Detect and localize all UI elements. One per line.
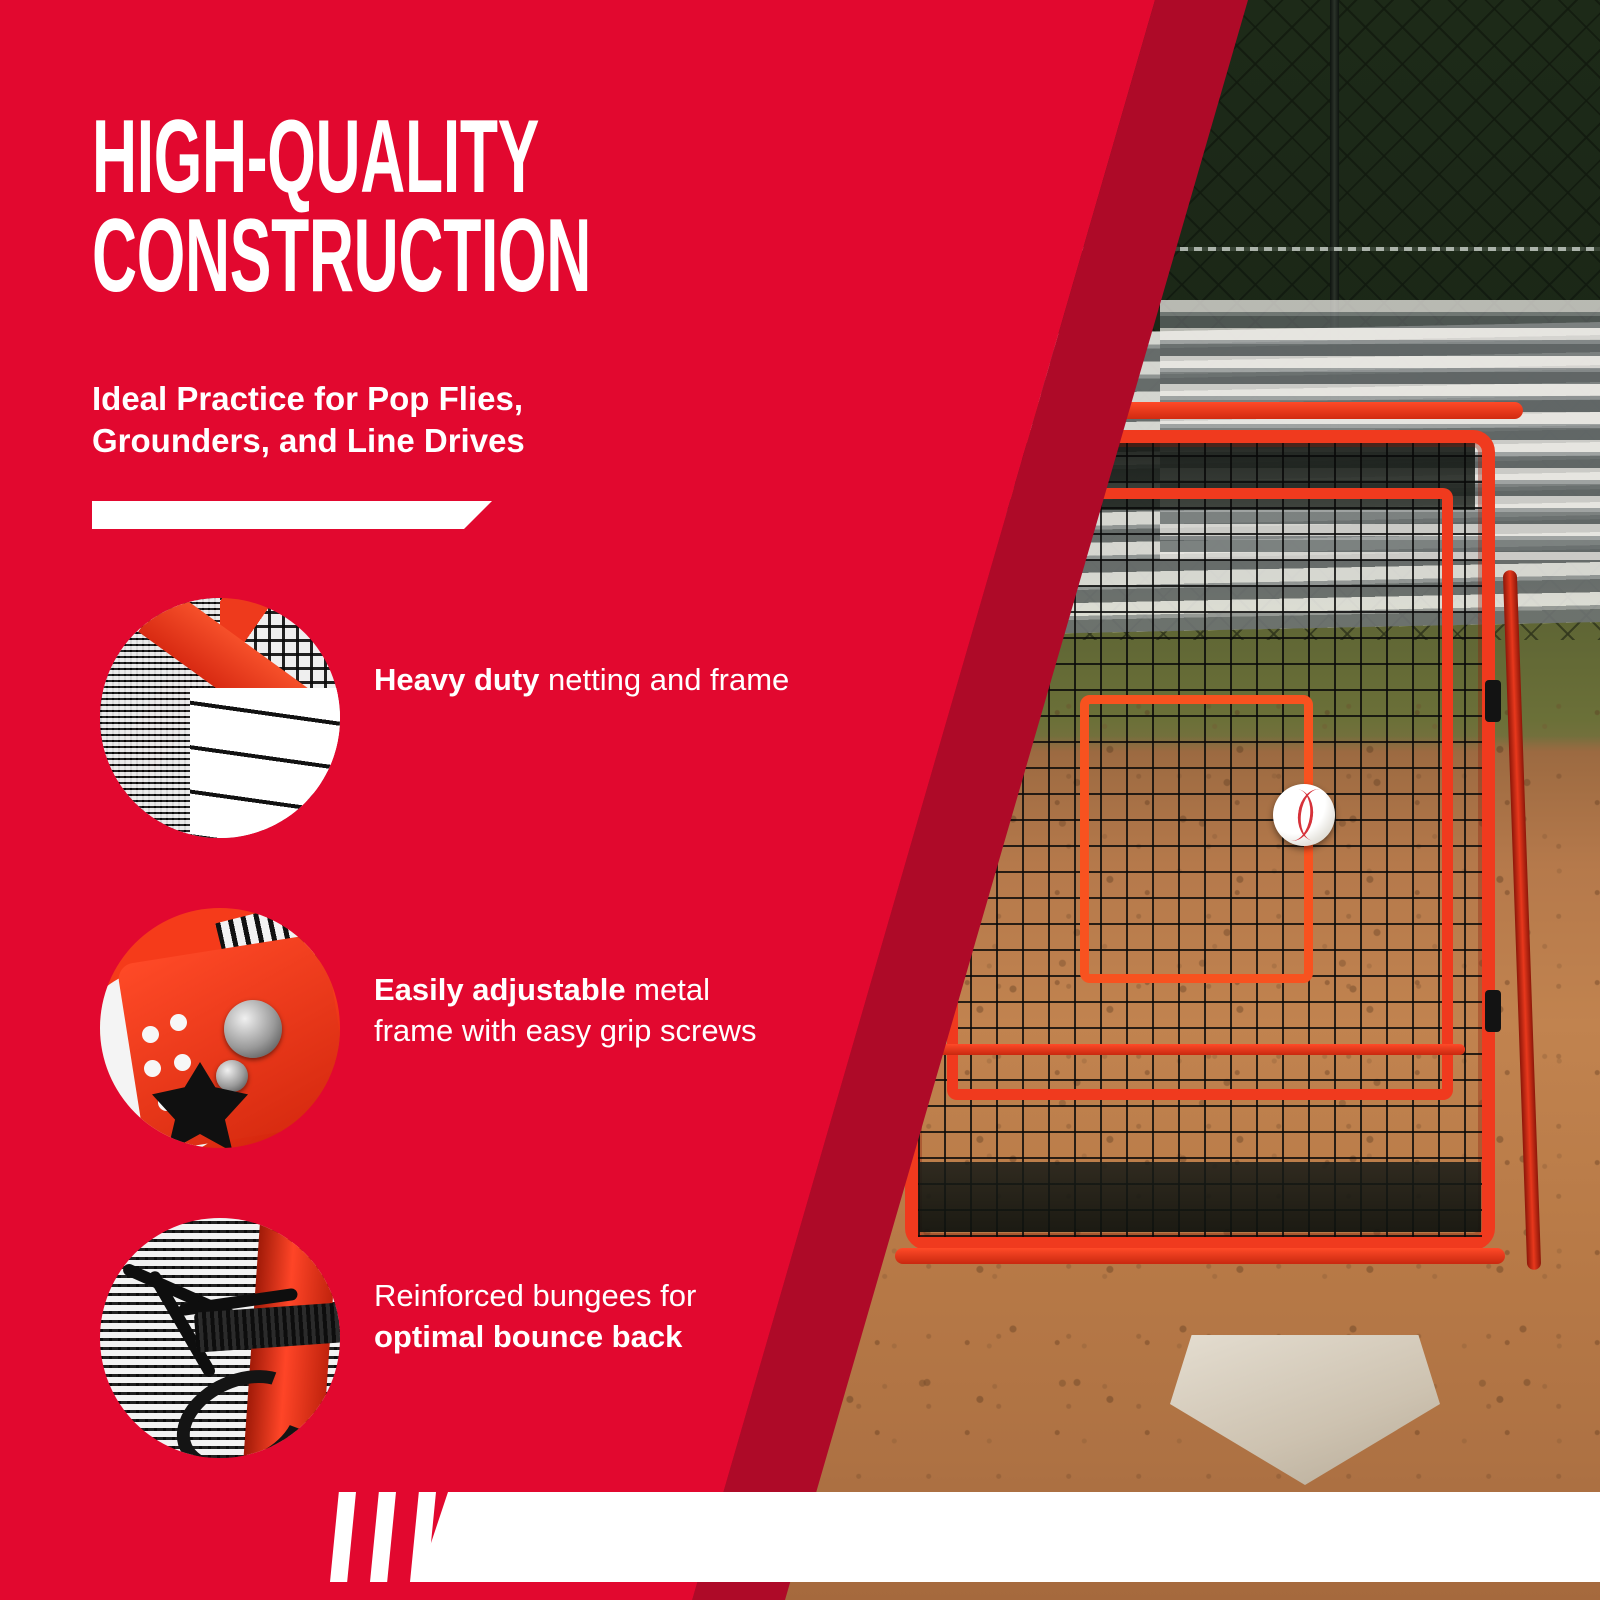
tick-mark <box>330 1492 356 1582</box>
net-target-zone <box>1080 695 1313 983</box>
feature-text: Reinforced bungees for optimal bounce ba… <box>374 1276 794 1358</box>
bracket-screw-closeup-thumbnail <box>100 908 340 1148</box>
subtitle: Ideal Practice for Pop Flies, Grounders,… <box>92 378 692 462</box>
netting-closeup-thumbnail <box>100 598 340 838</box>
feature-heavy-duty-netting: Heavy duty netting and frame <box>92 598 792 838</box>
white-net-grid <box>190 688 340 838</box>
bungee-strap-closeup-thumbnail <box>100 1218 340 1458</box>
feature-reinforced-bungees: Reinforced bungees for optimal bounce ba… <box>92 1218 792 1458</box>
feature-bold-label: optimal bounce back <box>374 1319 682 1354</box>
feature-bold-label: Easily adjustable <box>374 972 626 1007</box>
feature-text: Heavy duty netting and frame <box>374 660 794 701</box>
accent-rule <box>92 501 492 529</box>
product-feature-banner: HIGH-QUALITY CONSTRUCTION Ideal Practice… <box>0 0 1600 1600</box>
bracket-hole <box>170 1014 187 1031</box>
feature-bold-label: Heavy duty <box>374 662 539 697</box>
net-bottom-shade <box>919 1162 1481 1232</box>
net-mid-rail <box>935 1044 1465 1055</box>
large-bolt-icon <box>224 1000 282 1058</box>
feature-text: Easily adjustable metal frame with easy … <box>374 970 794 1052</box>
feature-adjustable-frame: Easily adjustable metal frame with easy … <box>92 908 792 1148</box>
bracket-hole <box>142 1026 159 1043</box>
tick-mark <box>370 1492 396 1582</box>
page-title: HIGH-QUALITY CONSTRUCTION <box>92 108 752 306</box>
bracket-hole <box>174 1054 191 1071</box>
feature-rest-label: netting and frame <box>539 662 789 697</box>
feature-lead-label: Reinforced bungees for <box>374 1278 696 1313</box>
bungee-clip <box>1485 680 1501 722</box>
bungee-clip <box>1485 990 1501 1032</box>
bracket-hole <box>144 1060 161 1077</box>
net-bottom-rail <box>895 1248 1505 1264</box>
small-bolt-icon <box>216 1060 248 1092</box>
baseball <box>1273 784 1335 846</box>
bottom-accent-bar <box>418 1492 1600 1582</box>
